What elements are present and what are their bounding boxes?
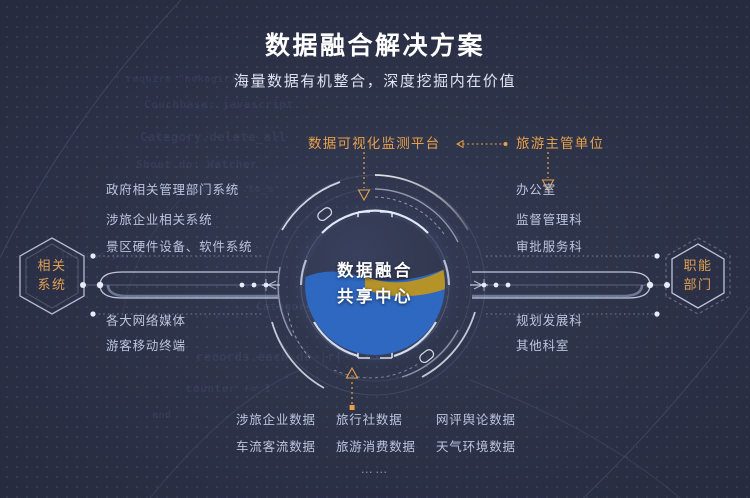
left-source-item[interactable]: 政府相关管理部门系统 <box>106 179 239 198</box>
left-source-item[interactable]: 涉旅企业相关系统 <box>106 209 212 228</box>
bottom-data-item[interactable]: 天气环境数据 <box>436 436 516 455</box>
page-subtitle: 海量数据有机整合，深度挖掘内在价值 <box>0 70 750 91</box>
bottom-data-item[interactable]: 旅行社数据 <box>336 409 403 428</box>
background-code-text: counter += 1 <box>186 382 271 395</box>
page-title: 数据融合解决方案 <box>0 26 750 62</box>
background-code-text: Shout.do: Watcher <box>136 158 257 171</box>
bottom-data-item[interactable]: 车流客流数据 <box>236 436 316 455</box>
background-code-text: end <box>152 410 172 421</box>
right-department-item[interactable]: 其他科室 <box>516 335 569 354</box>
background-code-text: Couchbase: javascript <box>144 98 294 111</box>
liquid-fill <box>305 263 445 355</box>
left-source-item[interactable]: 各大网络媒体 <box>106 310 186 329</box>
badge-functional-departments[interactable]: 职能 部门 <box>662 235 734 317</box>
right-department-item[interactable]: 监督管理科 <box>516 209 583 228</box>
hub-sphere <box>305 215 445 355</box>
bottom-data-item[interactable]: 旅游消费数据 <box>336 436 416 455</box>
left-source-item[interactable]: 游客移动终端 <box>106 335 186 354</box>
bottom-data-item[interactable]: 网评舆论数据 <box>436 409 516 428</box>
bottom-data-item[interactable]: 涉旅企业数据 <box>236 409 316 428</box>
hexagon-outline-icon <box>662 235 734 317</box>
bottom-data-ellipsis: …… <box>0 462 750 476</box>
data-fusion-hub: 数据融合 共享中心 <box>262 172 488 398</box>
infographic-canvas: Couchbase: javascript Category.delete_al… <box>0 0 750 498</box>
label-tourism-authority[interactable]: 旅游主管单位 <box>516 132 604 152</box>
background-code-text: Category.delete_all <box>140 130 287 144</box>
right-department-item[interactable]: 规划发展科 <box>516 310 583 329</box>
hexagon-outline-icon <box>16 235 88 317</box>
label-visualization-platform[interactable]: 数据可视化监测平台 <box>308 132 440 152</box>
right-department-item[interactable]: 办公室 <box>516 179 556 198</box>
dotted-left-arrow-icon <box>448 138 510 150</box>
left-source-item[interactable]: 景区硬件设备、软件系统 <box>106 236 252 255</box>
right-department-item[interactable]: 审批服务科 <box>516 236 583 255</box>
badge-related-systems[interactable]: 相关 系统 <box>16 235 88 317</box>
